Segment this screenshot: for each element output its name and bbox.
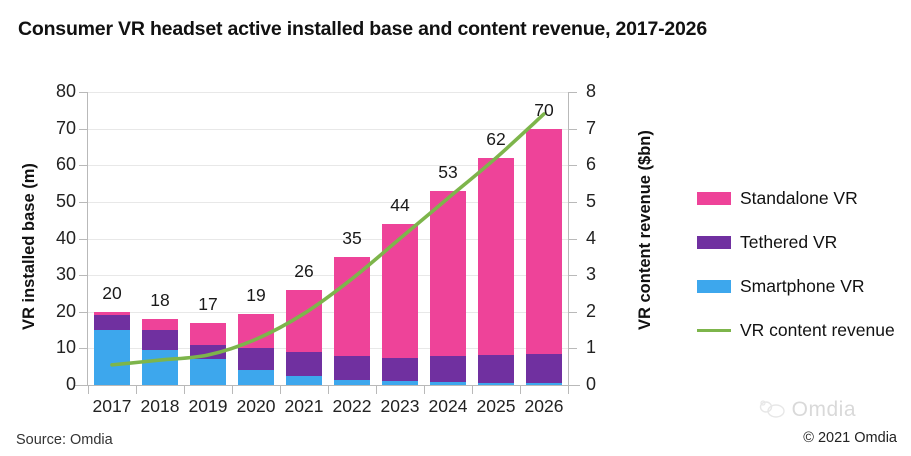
right-tick	[569, 165, 577, 166]
bar-total-label: 70	[514, 100, 574, 121]
right-tick-label: 0	[586, 374, 616, 395]
x-axis-label: 2026	[514, 396, 574, 417]
left-tick-label: 50	[36, 191, 76, 212]
right-tick	[569, 312, 577, 313]
left-tick-label: 0	[36, 374, 76, 395]
legend-item-tethered-vr[interactable]: Tethered VR	[697, 220, 895, 264]
x-tick	[568, 386, 569, 394]
right-tick	[569, 92, 577, 93]
right-tick-label: 8	[586, 81, 616, 102]
right-tick-label: 1	[586, 337, 616, 358]
legend-line-marker	[697, 329, 731, 332]
bar-total-label: 44	[370, 195, 430, 216]
bar-total-label: 19	[226, 285, 286, 306]
watermark-label: Omdia	[792, 398, 856, 422]
x-tick	[472, 386, 473, 394]
left-tick	[79, 312, 87, 313]
left-tick-label: 80	[36, 81, 76, 102]
legend-item-smartphone-vr[interactable]: Smartphone VR	[697, 264, 895, 308]
legend-item-standalone-vr[interactable]: Standalone VR	[697, 176, 895, 220]
legend-label: Tethered VR	[740, 232, 837, 253]
source-note: Source: Omdia	[16, 432, 113, 448]
chart-legend: Standalone VRTethered VRSmartphone VRVR …	[697, 176, 895, 352]
bar-total-label: 53	[418, 162, 478, 183]
right-tick-label: 4	[586, 228, 616, 249]
right-tick	[569, 239, 577, 240]
right-tick-label: 5	[586, 191, 616, 212]
right-tick-label: 6	[586, 154, 616, 175]
left-tick-label: 10	[36, 337, 76, 358]
omdia-logo-icon	[757, 399, 787, 421]
x-tick	[376, 386, 377, 394]
left-tick-label: 60	[36, 154, 76, 175]
x-tick	[520, 386, 521, 394]
right-tick	[569, 202, 577, 203]
left-tick	[79, 385, 87, 386]
left-tick	[79, 165, 87, 166]
left-tick-label: 20	[36, 301, 76, 322]
bar-total-label: 35	[322, 228, 382, 249]
legend-label: Standalone VR	[740, 188, 858, 209]
chart-title: Consumer VR headset active installed bas…	[18, 18, 707, 41]
left-tick	[79, 202, 87, 203]
right-tick	[569, 385, 577, 386]
x-tick	[328, 386, 329, 394]
left-tick	[79, 129, 87, 130]
x-tick	[424, 386, 425, 394]
legend-item-vr-content-revenue[interactable]: VR content revenue	[697, 308, 895, 352]
x-tick	[280, 386, 281, 394]
right-axis-title: VR content revenue ($bn)	[636, 130, 655, 330]
left-tick-label: 30	[36, 264, 76, 285]
left-tick	[79, 92, 87, 93]
copyright-note: © 2021 Omdia	[803, 430, 897, 446]
left-tick-label: 70	[36, 118, 76, 139]
left-tick	[79, 239, 87, 240]
right-tick	[569, 348, 577, 349]
right-tick-label: 3	[586, 264, 616, 285]
right-tick	[569, 275, 577, 276]
bar-total-label: 62	[466, 129, 526, 150]
left-tick	[79, 348, 87, 349]
legend-color-swatch	[697, 280, 731, 293]
left-tick	[79, 275, 87, 276]
right-tick-label: 7	[586, 118, 616, 139]
omdia-watermark: Omdia	[757, 398, 856, 422]
left-tick-label: 40	[36, 228, 76, 249]
legend-label: VR content revenue	[740, 320, 895, 341]
legend-color-swatch	[697, 236, 731, 249]
legend-color-swatch	[697, 192, 731, 205]
chart-figure: Consumer VR headset active installed bas…	[0, 0, 911, 456]
bar-total-label: 26	[274, 261, 334, 282]
right-tick	[569, 129, 577, 130]
x-tick	[232, 386, 233, 394]
x-tick	[88, 386, 89, 394]
x-tick	[136, 386, 137, 394]
x-tick	[184, 386, 185, 394]
right-tick-label: 2	[586, 301, 616, 322]
legend-label: Smartphone VR	[740, 276, 865, 297]
